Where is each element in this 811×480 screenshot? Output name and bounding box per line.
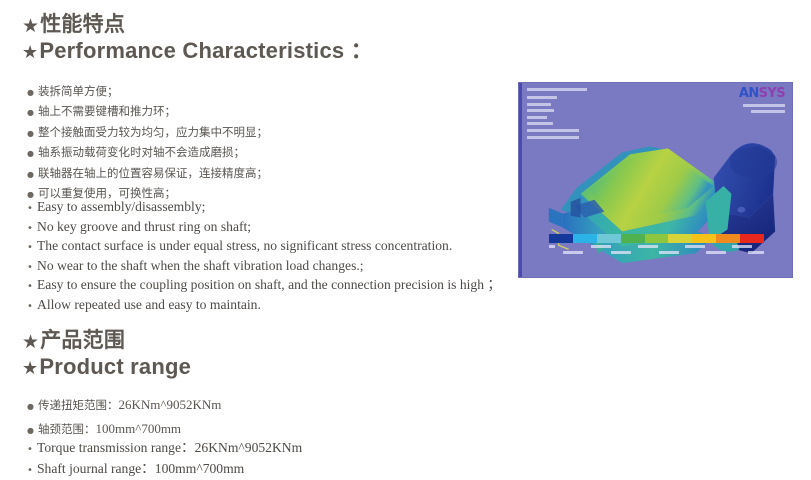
list-item-text: 整个接触面受力较为均匀，应力集中不明显； xyxy=(38,125,268,139)
range-value: 26KNm^9052KNm xyxy=(119,397,222,412)
performance-heading-cn-text: 性能特点 xyxy=(40,13,125,36)
list-item: •No wear to the shaft when the shaft vib… xyxy=(27,257,501,277)
list-item-text: Easy to assembly/disassembly; xyxy=(37,199,205,214)
colorbar-tick-labels xyxy=(549,245,764,259)
product-range-heading-en: ★Product range xyxy=(22,353,191,380)
list-item-text: 轴上不需要键槽和推力环； xyxy=(38,104,176,118)
range-label: 传递扭矩范围： xyxy=(38,398,119,412)
bullet-icon: ● xyxy=(27,396,38,418)
product-range-list-en: •Torque transmission range：26KNm^9052KNm… xyxy=(27,438,302,480)
product-range-heading-cn-text: 产品范围 xyxy=(40,329,125,352)
list-item-text: Torque transmission range：26KNm^9052KNm xyxy=(37,440,302,455)
performance-heading-en-text: Performance Characteristics ： xyxy=(39,38,373,63)
bullet-icon: • xyxy=(27,278,37,296)
performance-heading-en: ★Performance Characteristics ： xyxy=(22,37,373,64)
bullet-icon: • xyxy=(27,440,37,459)
range-label: 轴颈范围： xyxy=(38,422,96,436)
list-item-text: 联轴器在轴上的位置容易保证，连接精度高； xyxy=(38,166,268,180)
bullet-icon: ● xyxy=(27,124,38,143)
list-item: ●联轴器在轴上的位置容易保证，连接精度高； xyxy=(27,164,268,184)
bullet-icon: • xyxy=(27,200,37,218)
list-item-text: No key groove and thrust ring on shaft; xyxy=(37,219,251,234)
star-icon: ★ xyxy=(22,44,38,62)
bullet-icon: • xyxy=(27,239,37,257)
list-item: ●轴系振动载荷变化时对轴不会造成磨损； xyxy=(27,143,268,163)
list-item: ●整个接触面受力较为均匀，应力集中不明显； xyxy=(27,123,268,143)
bullet-icon: ● xyxy=(27,103,38,122)
list-item-text: Easy to ensure the coupling position on … xyxy=(37,277,501,292)
list-item-text: 装拆简单方便； xyxy=(38,84,119,98)
bullet-icon: ● xyxy=(27,144,38,163)
product-range-heading-cn: ★产品范围 xyxy=(22,328,191,353)
performance-list-cn: ●装拆简单方便； ●轴上不需要键槽和推力环； ●整个接触面受力较为均匀，应力集中… xyxy=(27,82,268,204)
ansys-stress-analysis-image: ANSYS xyxy=(518,82,793,278)
list-item-text: 轴系振动载荷变化时对轴不会造成磨损； xyxy=(38,145,245,159)
list-item: •Torque transmission range：26KNm^9052KNm xyxy=(27,438,302,459)
stress-colorbar xyxy=(549,234,764,259)
product-range-heading-block: ★产品范围 ★Product range xyxy=(22,328,191,380)
performance-heading-cn: ★性能特点 xyxy=(22,12,373,37)
list-item: •Allow repeated use and easy to maintain… xyxy=(27,296,501,316)
list-item-text: No wear to the shaft when the shaft vibr… xyxy=(37,258,364,273)
performance-heading-block: ★性能特点 ★Performance Characteristics ： xyxy=(22,12,373,64)
bullet-icon: ● xyxy=(27,165,38,184)
bullet-icon: • xyxy=(27,298,37,316)
list-item-text: Shaft journal range：100mm^700mm xyxy=(37,461,244,476)
colorbar-gradient xyxy=(549,234,764,243)
star-icon: ★ xyxy=(22,360,38,378)
bullet-icon: • xyxy=(27,461,37,480)
list-item: •The contact surface is under equal stre… xyxy=(27,237,501,257)
list-item: ●装拆简单方便； xyxy=(27,82,268,102)
star-icon: ★ xyxy=(22,17,39,36)
product-range-heading-en-text: Product range xyxy=(39,354,191,379)
bullet-icon: • xyxy=(27,259,37,277)
performance-list-en: •Easy to assembly/disassembly; •No key g… xyxy=(27,198,501,316)
product-range-list-cn: ●传递扭矩范围：26KNm^9052KNm ●轴颈范围：100mm^700mm xyxy=(27,394,221,442)
list-item-text: The contact surface is under equal stres… xyxy=(37,238,452,253)
bullet-icon: ● xyxy=(27,83,38,102)
star-icon: ★ xyxy=(22,333,39,352)
list-item: •Easy to ensure the coupling position on… xyxy=(27,276,501,296)
list-item: •Easy to assembly/disassembly; xyxy=(27,198,501,218)
list-item-text: Allow repeated use and easy to maintain. xyxy=(37,297,261,312)
page-canvas: ★性能特点 ★Performance Characteristics ： ●装拆… xyxy=(0,0,811,477)
list-item: •No key groove and thrust ring on shaft; xyxy=(27,218,501,238)
list-item: ●轴上不需要键槽和推力环； xyxy=(27,102,268,122)
bullet-icon: • xyxy=(27,220,37,238)
range-value: 100mm^700mm xyxy=(96,421,182,436)
list-item: ●传递扭矩范围：26KNm^9052KNm xyxy=(27,394,221,418)
